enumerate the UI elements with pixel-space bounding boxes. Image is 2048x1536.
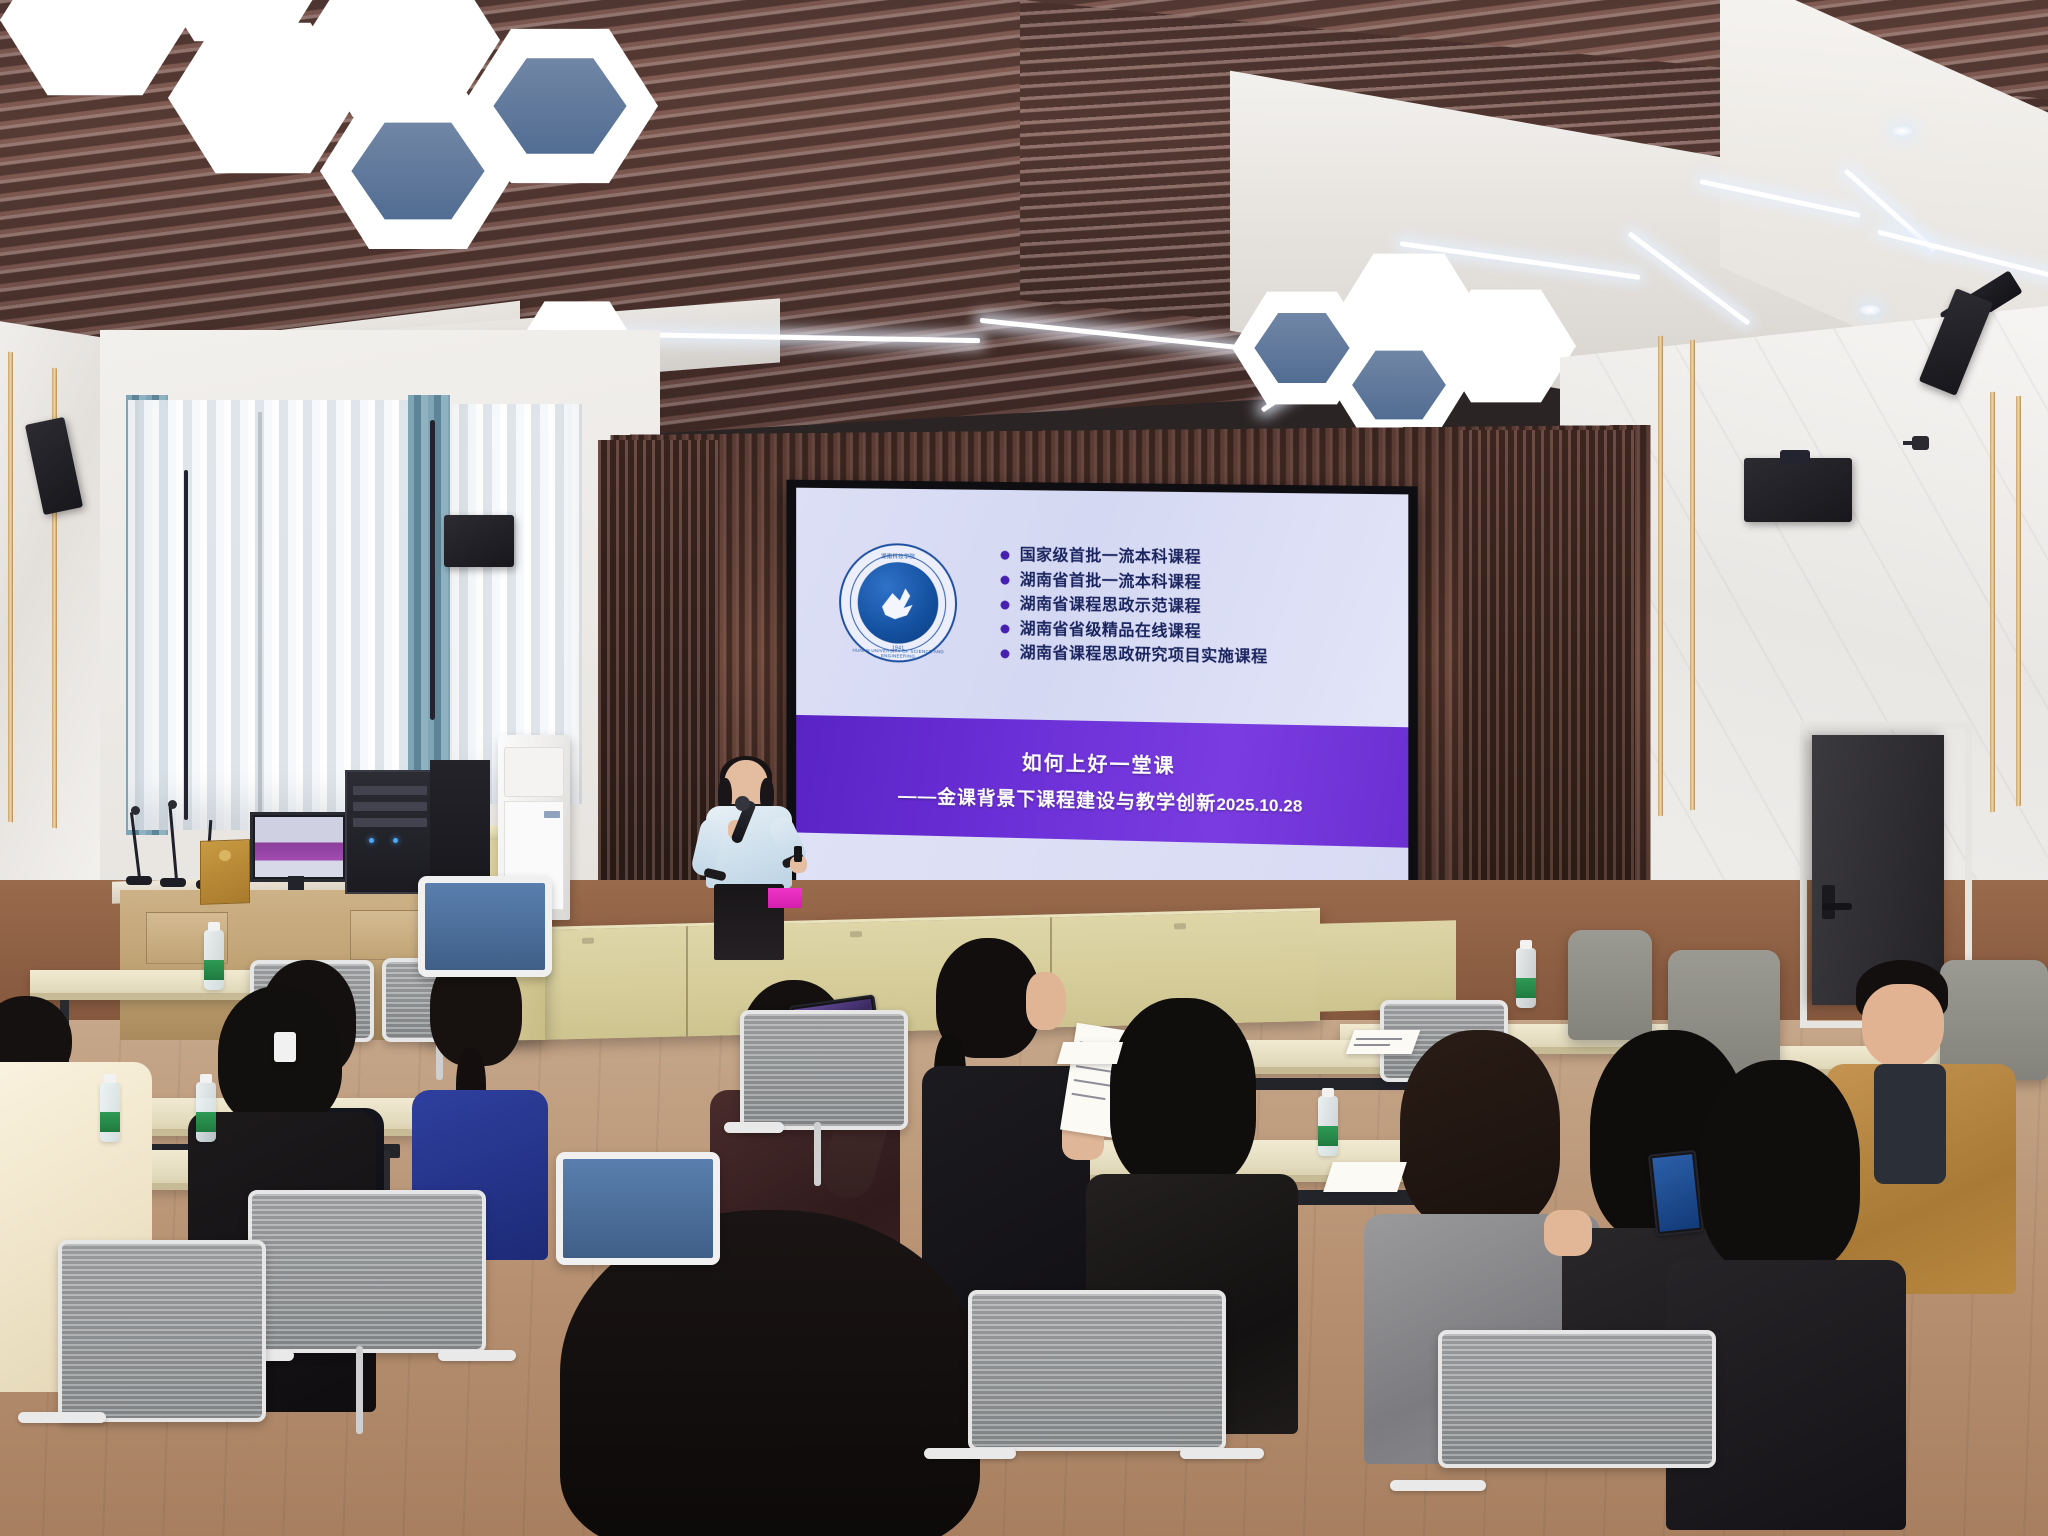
slide-subtitle: ——金课背景下课程建设与教学创新 (898, 787, 1216, 815)
slide-title-band: 如何上好一堂课 ——金课背景下课程建设与教学创新2025.10.28 (796, 715, 1408, 848)
chair-armrest (18, 1412, 106, 1423)
ac-display-badge (544, 811, 560, 818)
logo-name-en: HUNAN UNIVERSITY OF SCIENCE AND ENGINEER… (841, 648, 955, 660)
bullet-dot-icon (1001, 649, 1010, 658)
gold-trim-1 (1658, 336, 1663, 817)
curtain-sheer (128, 400, 448, 830)
water-bottle-2[interactable] (196, 1082, 216, 1142)
university-logo-wrap: 湖南科技学院 1941 HUNAN UNIVERSITY OF SCIENCE … (796, 542, 1001, 664)
door-handle-icon[interactable] (1822, 903, 1852, 910)
bullet-item: 湖南省课程思政研究项目实施课程 (1001, 643, 1390, 672)
chair-executive-back-right[interactable] (1568, 930, 1652, 1040)
chair-armrest (438, 1350, 516, 1361)
gold-trim-4 (2016, 396, 2021, 807)
downlight-3 (1892, 126, 1912, 136)
gold-trim-3 (1990, 392, 1995, 813)
chair-foreground-center[interactable] (740, 1010, 900, 1190)
slide-title-main: 如何上好一堂课 (1022, 747, 1176, 779)
chair-armrest (924, 1448, 1016, 1459)
chair-armrest (1180, 1448, 1264, 1459)
chair-blue-foreground[interactable] (418, 876, 538, 1016)
water-bottle-5[interactable] (204, 930, 224, 990)
door-lock-plate (1822, 885, 1835, 919)
chair-armrest (724, 1122, 784, 1133)
water-bottle-3[interactable] (1318, 1096, 1338, 1156)
projector-mount (1780, 450, 1810, 464)
bullet-text: 湖南省省级精品在线课程 (1020, 619, 1201, 644)
hand (1544, 1210, 1592, 1256)
monitor-stand (288, 876, 304, 890)
slide-top-section: 湖南科技学院 1941 HUNAN UNIVERSITY OF SCIENCE … (796, 488, 1408, 728)
face (1026, 972, 1066, 1030)
speaker-stand-pole-left (430, 420, 435, 720)
presentation-clicker (794, 846, 802, 862)
face (1862, 984, 1944, 1068)
gold-trim-2 (1690, 340, 1695, 811)
lecture-hall-photo: 湖南科技学院 1941 HUNAN UNIVERSITY OF SCIENCE … (0, 0, 2048, 1536)
security-camera (1912, 436, 1929, 450)
university-logo-icon: 湖南科技学院 1941 HUNAN UNIVERSITY OF SCIENCE … (839, 543, 957, 664)
bullet-dot-icon (1001, 551, 1010, 560)
chair-foreground-left[interactable] (248, 1190, 478, 1440)
slide-title-sub-row: ——金课背景下课程建设与教学创新2025.10.28 (898, 782, 1303, 818)
chair-executive-far-right[interactable] (1940, 960, 2048, 1080)
water-bottle-1[interactable] (100, 1082, 120, 1142)
presenter (690, 760, 810, 960)
bullet-text: 湖南省课程思政示范课程 (1020, 594, 1201, 618)
inner-shirt (1874, 1064, 1946, 1184)
hair (1110, 998, 1256, 1188)
paper-on-table-1 (1346, 1030, 1421, 1054)
bullet-item: 国家级首批一流本科课程 (1001, 545, 1390, 572)
wall-speaker-left-2 (444, 515, 514, 567)
water-bottle-4[interactable] (1516, 948, 1536, 1008)
paper-on-table-2 (1323, 1162, 1407, 1192)
hair (1400, 1030, 1560, 1230)
wall-speaker-right (1744, 458, 1852, 522)
control-monitor[interactable] (250, 812, 348, 882)
chair-foreground-mid[interactable] (968, 1290, 1218, 1536)
bullet-item: 湖南省课程思政示范课程 (1001, 594, 1390, 622)
wall-wood-slats-stage-right (1460, 430, 1635, 900)
slide-date: 2025.10.28 (1216, 795, 1302, 816)
chair-blue-foreground-2[interactable] (556, 1152, 706, 1312)
bullet-dot-icon (1001, 600, 1010, 609)
bullet-text: 湖南省课程思政研究项目实施课程 (1020, 643, 1268, 669)
hair (1700, 1060, 1860, 1274)
bullet-item: 湖南省首批一流本科课程 (1001, 569, 1390, 596)
microphone-head-icon (131, 806, 140, 815)
paper-on-table-3 (1057, 1042, 1123, 1064)
hair-clip (274, 1032, 296, 1062)
bullet-item: 湖南省省级精品在线课程 (1001, 618, 1390, 646)
logo-name-cn: 湖南科技学院 (841, 552, 955, 562)
chair-left-edge[interactable] (58, 1240, 258, 1520)
slide-bullet-list: 国家级首批一流本科课程 湖南省首批一流本科课程 湖南省课程思政示范课程 湖南省省… (1001, 542, 1408, 675)
panel-latch (850, 931, 862, 937)
bullet-text: 国家级首批一流本科课程 (1020, 545, 1201, 569)
gold-trim-5 (8, 352, 13, 823)
panel-latch (582, 938, 594, 944)
ac-grille (504, 747, 564, 797)
smartphone-right[interactable] (1648, 1150, 1704, 1237)
stage-front-panel-right (1316, 920, 1456, 1011)
microphone-head-icon (168, 800, 177, 809)
panel-latch (1174, 923, 1186, 929)
award-plaque (200, 839, 250, 905)
panel-seam (686, 926, 688, 1036)
chair-foreground-right[interactable] (1438, 1330, 1708, 1536)
stage-pink-marker (768, 888, 802, 908)
led-display-screen[interactable]: 湖南科技学院 1941 HUNAN UNIVERSITY OF SCIENCE … (786, 480, 1417, 920)
slide-surface: 湖南科技学院 1941 HUNAN UNIVERSITY OF SCIENCE … (796, 488, 1408, 911)
downlight-1 (1860, 305, 1880, 315)
speaker-stand-pole-left-2 (184, 470, 188, 820)
chair-armrest (1390, 1480, 1486, 1491)
bullet-text: 湖南省首批一流本科课程 (1020, 570, 1201, 594)
bullet-dot-icon (1001, 625, 1010, 634)
microphone-head-icon (735, 796, 750, 811)
bullet-dot-icon (1001, 576, 1010, 585)
window-mullion (258, 412, 262, 812)
microphone-base (160, 878, 186, 887)
